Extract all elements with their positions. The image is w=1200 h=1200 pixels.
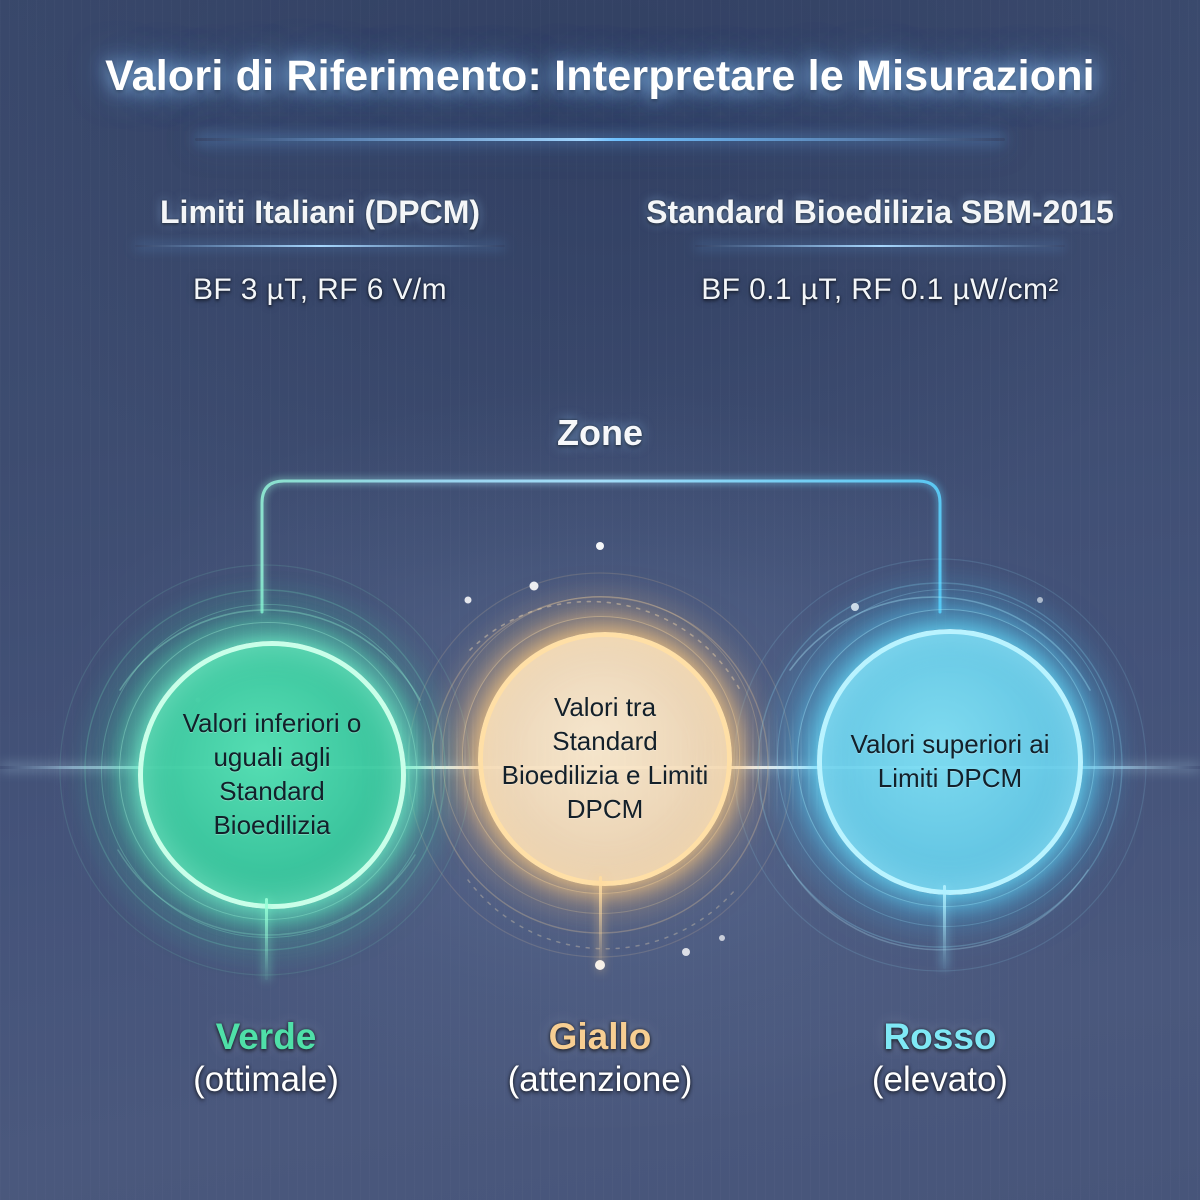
zone-yellow-description: Valori tra Standard Bioedilizia e Limiti… bbox=[483, 691, 727, 826]
zone-green-description: Valori inferiori o uguali agli Standard … bbox=[143, 707, 401, 842]
standard-title-limiti-italiani: Limiti Italiani (DPCM) bbox=[60, 194, 580, 231]
zone-rosso-stem bbox=[943, 885, 946, 969]
zone-green-stem bbox=[265, 898, 268, 980]
zone-yellow-stem bbox=[599, 876, 602, 972]
standard-panel-limiti-italiani: Limiti Italiani (DPCM) BF 3 µT, RF 6 V/m bbox=[60, 194, 580, 307]
zone-green-circle[interactable]: Valori inferiori o uguali agli Standard … bbox=[138, 641, 406, 909]
legend-green: Verde (ottimale) bbox=[116, 1016, 416, 1100]
zone-rosso[interactable]: Valori superiori ai Limiti DPCM bbox=[775, 555, 1115, 980]
zone-green[interactable]: Valori inferiori o uguali agli Standard … bbox=[95, 560, 440, 980]
zone-yellow[interactable]: Valori tra Standard Bioedilizia e Limiti… bbox=[438, 560, 762, 980]
legend-yellow: Giallo (attenzione) bbox=[450, 1016, 750, 1100]
title-divider bbox=[195, 138, 1005, 141]
legend-yellow-name: Giallo bbox=[450, 1016, 750, 1058]
legend-green-name: Verde bbox=[116, 1016, 416, 1058]
legend-rosso-sub: (elevato) bbox=[790, 1060, 1090, 1100]
legend-rosso: Rosso (elevato) bbox=[790, 1016, 1090, 1100]
zones-heading: Zone bbox=[0, 412, 1200, 454]
infographic-canvas: Valori di Riferimento: Interpretare le M… bbox=[0, 0, 1200, 1200]
zone-rosso-circle[interactable]: Valori superiori ai Limiti DPCM bbox=[817, 629, 1083, 895]
standard-panel-standard-bioedilizia: Standard Bioedilizia SBM-2015 BF 0.1 µT,… bbox=[600, 194, 1160, 307]
zone-rosso-description: Valori superiori ai Limiti DPCM bbox=[822, 728, 1078, 796]
standard-values-limiti-italiani: BF 3 µT, RF 6 V/m bbox=[60, 273, 580, 307]
standard-values-standard-bioedilizia: BF 0.1 µT, RF 0.1 µW/cm² bbox=[600, 273, 1160, 307]
standard-title-standard-bioedilizia: Standard Bioedilizia SBM-2015 bbox=[600, 194, 1160, 231]
legend-rosso-name: Rosso bbox=[790, 1016, 1090, 1058]
legend-yellow-sub: (attenzione) bbox=[450, 1060, 750, 1100]
standard-divider-right bbox=[695, 245, 1065, 247]
standard-divider-left bbox=[135, 245, 505, 247]
legend-green-sub: (ottimale) bbox=[116, 1060, 416, 1100]
page-title: Valori di Riferimento: Interpretare le M… bbox=[0, 52, 1200, 101]
zone-yellow-circle[interactable]: Valori tra Standard Bioedilizia e Limiti… bbox=[478, 632, 732, 886]
